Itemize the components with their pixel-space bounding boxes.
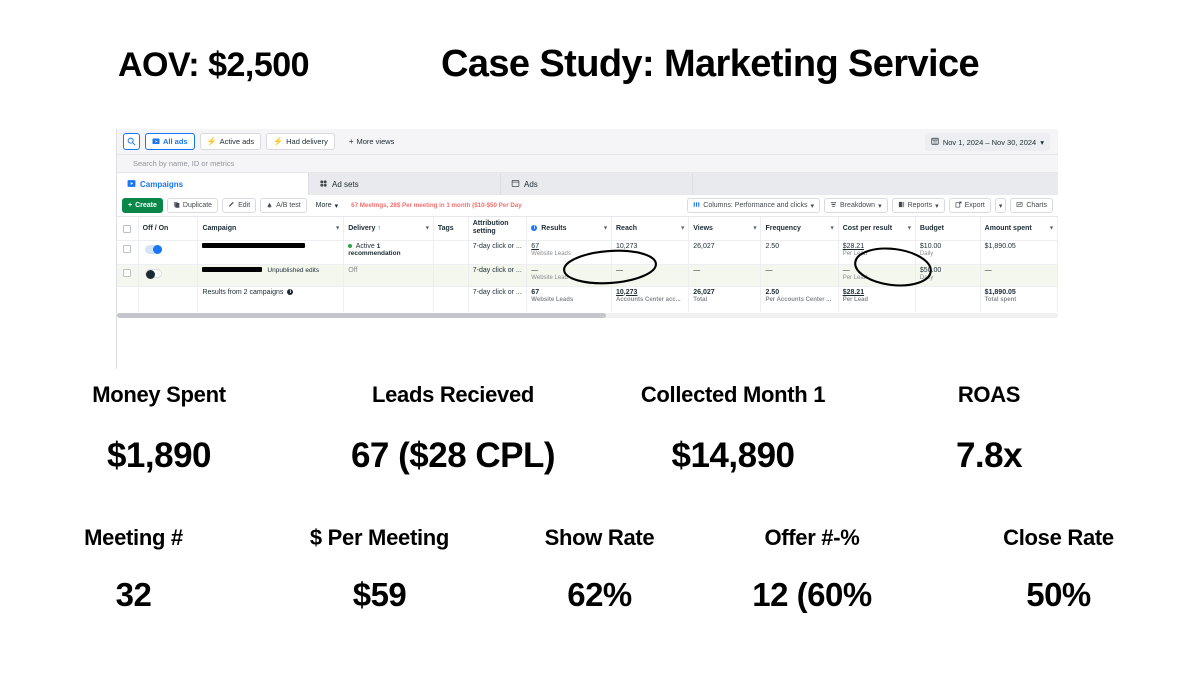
duplicate-button[interactable]: Duplicate (167, 198, 218, 213)
reports-label: Reports (908, 202, 933, 209)
columns-icon (693, 201, 700, 210)
metric-label: Leads Recieved (318, 382, 588, 408)
charts-button[interactable]: Charts (1010, 198, 1053, 213)
metric-label: Offer #-% (707, 525, 917, 551)
chevron-down-icon[interactable]: ▾ (908, 225, 911, 232)
lightning-icon: ⚡ (207, 138, 217, 146)
chevron-down-icon[interactable]: ▾ (426, 225, 429, 232)
metric-label: Meeting # (0, 525, 267, 551)
row-toggle-cell[interactable] (138, 240, 198, 264)
header-reach[interactable]: Reach ▾ (612, 217, 689, 240)
totals-blank (138, 286, 198, 312)
entity-tabs: Campaigns Ad sets Ads (117, 173, 1058, 195)
row-delivery: Off (344, 264, 434, 286)
campaigns-table: Off / On Campaign ▾ Delivery ↑ ▾ Tags At… (117, 217, 1058, 312)
table-header-row: Off / On Campaign ▾ Delivery ↑ ▾ Tags At… (117, 217, 1058, 240)
horizontal-scrollbar[interactable] (117, 313, 1058, 318)
tab-ad-sets[interactable]: Ad sets (309, 173, 501, 195)
row-views: — (689, 264, 761, 286)
totals-label: Results from 2 campaigns i (198, 286, 344, 312)
breakdown-button[interactable]: Breakdown ▾ (824, 198, 888, 213)
view-chip-all-ads[interactable]: All ads (145, 133, 195, 150)
row-campaign-name[interactable] (198, 240, 344, 264)
metrics-row-top: Money Spent $1,890 Leads Recieved 67 ($2… (0, 382, 1200, 476)
metric-close-rate: Close Rate 50% (917, 525, 1200, 614)
row-tags (433, 264, 468, 286)
metric-show-rate: Show Rate 62% (492, 525, 707, 614)
header-amount-spent[interactable]: Amount spent ▾ (980, 217, 1057, 240)
row-campaign-name[interactable]: Unpublished edits (198, 264, 344, 286)
toolbar-right-group: Columns: Performance and clicks ▾ Breakd… (687, 198, 1053, 213)
sort-ascending-icon: ↑ (377, 225, 381, 232)
page-title: Case Study: Marketing Service (441, 43, 979, 86)
columns-label: Columns: Performance and clicks (703, 202, 807, 209)
checkbox-icon[interactable] (123, 269, 131, 277)
metric-value: $59 (267, 576, 492, 614)
export-button[interactable]: Export (949, 198, 991, 213)
chevron-down-icon: ▾ (999, 202, 1003, 210)
row-checkbox-cell[interactable] (117, 264, 138, 286)
row-results: 67 Website Leads (527, 240, 612, 264)
export-icon (955, 201, 962, 210)
charts-icon (1016, 201, 1023, 210)
metric-value: 50% (917, 576, 1200, 614)
table-row[interactable]: Unpublished edits Off 7-day click or ...… (117, 264, 1058, 286)
table-row[interactable]: Active 1 recommendation 7-day click or .… (117, 240, 1058, 264)
reports-button[interactable]: Reports ▾ (892, 198, 945, 213)
totals-views: 26,027 Total (689, 286, 761, 312)
duplicate-icon (173, 201, 180, 210)
header-campaign[interactable]: Campaign ▾ (198, 217, 344, 240)
ad-frame-icon (511, 179, 520, 190)
row-cost-per-result: — Per Lead (838, 264, 915, 286)
metric-collected-month-1: Collected Month 1 $14,890 (588, 382, 878, 476)
row-checkbox-cell[interactable] (117, 240, 138, 264)
chevron-down-icon[interactable]: ▾ (753, 225, 756, 232)
create-button[interactable]: + Create (122, 198, 163, 213)
metric-label: Money Spent (0, 382, 318, 408)
more-label: More (316, 202, 332, 209)
date-range-label: Nov 1, 2024 – Nov 30, 2024 (943, 138, 1036, 147)
totals-results: 67 Website Leads (527, 286, 612, 312)
ab-test-label: A/B test (276, 202, 301, 209)
totals-blank (344, 286, 434, 312)
tab-label: Campaigns (140, 180, 183, 189)
header-budget[interactable]: Budget (915, 217, 980, 240)
row-attribution: 7-day click or ... (468, 240, 527, 264)
header-select-all[interactable] (117, 217, 138, 240)
chevron-down-icon: ▾ (1040, 138, 1044, 147)
campaign-icon (127, 179, 136, 190)
plus-icon: + (128, 202, 132, 209)
adset-grid-icon (319, 179, 328, 190)
header-cost-per-result[interactable]: Cost per result ▾ (838, 217, 915, 240)
reports-icon (898, 201, 905, 210)
campaign-status-toggle[interactable] (145, 269, 162, 278)
ads-folder-icon (152, 137, 160, 147)
metric-meeting-count: Meeting # 32 (0, 525, 267, 614)
metric-value: 67 ($28 CPL) (318, 436, 588, 476)
metric-value: 7.8x (878, 436, 1100, 476)
metric-roas: ROAS 7.8x (878, 382, 1100, 476)
metric-dollar-per-meeting: $ Per Meeting $59 (267, 525, 492, 614)
charts-label: Charts (1026, 202, 1047, 209)
view-chip-label: All ads (163, 137, 188, 146)
header-off-on[interactable]: Off / On (138, 217, 198, 240)
metric-money-spent: Money Spent $1,890 (0, 382, 318, 476)
search-icon[interactable] (123, 133, 140, 150)
chevron-down-icon: ▾ (811, 202, 815, 210)
header-delivery[interactable]: Delivery ↑ ▾ (344, 217, 434, 240)
row-cost-per-result: $28.21 Per Lead (838, 240, 915, 264)
edit-button[interactable]: Edit (222, 198, 256, 213)
date-range-picker[interactable]: Nov 1, 2024 – Nov 30, 2024 ▾ (925, 133, 1050, 151)
row-amount-spent: — (980, 264, 1057, 286)
row-delivery: Active 1 recommendation (344, 240, 434, 264)
chevron-down-icon[interactable]: ▾ (831, 225, 834, 232)
tab-ads[interactable]: Ads (501, 173, 693, 195)
action-toolbar: + Create Duplicate Edit A/B test More ▾ … (117, 195, 1058, 217)
chevron-down-icon: ▾ (935, 202, 939, 210)
view-chip-label: Had delivery (286, 137, 328, 146)
red-annotation-note: 67 Meetings, 28$ Per meeting in 1 month … (351, 202, 522, 209)
calendar-icon (931, 137, 939, 147)
unpublished-edits-badge: Unpublished edits (267, 267, 319, 274)
tab-label: Ads (524, 180, 538, 189)
chevron-down-icon: ▾ (878, 202, 882, 210)
totals-amount-spent: $1,890.05 Total spent (980, 286, 1057, 312)
metric-value: 32 (0, 576, 267, 614)
tab-campaigns[interactable]: Campaigns (117, 173, 309, 195)
checkbox-icon[interactable] (123, 225, 131, 233)
view-chip-label: Active ads (220, 137, 255, 146)
metric-value: 62% (492, 576, 707, 614)
row-results: — Website Lead (527, 264, 612, 286)
totals-blank (117, 286, 138, 312)
metric-value: 12 (60% (707, 576, 917, 614)
metrics-row-bottom: Meeting # 32 $ Per Meeting $59 Show Rate… (0, 525, 1200, 614)
metric-label: ROAS (878, 382, 1100, 408)
redacted-campaign-name (202, 243, 305, 248)
info-icon[interactable]: i (531, 225, 537, 231)
totals-reach: 10,273 Accounts Center acc... (612, 286, 689, 312)
chevron-down-icon[interactable]: ▾ (1050, 225, 1053, 232)
search-row[interactable]: Search by name, ID or metrics (117, 155, 1058, 173)
breakdown-icon (830, 201, 837, 210)
row-frequency: 2.50 (761, 240, 838, 264)
search-input[interactable]: Search by name, ID or metrics (133, 159, 234, 168)
lightning-icon: ⚡ (273, 138, 283, 146)
metric-value: $1,890 (0, 436, 318, 476)
export-dropdown-button[interactable]: ▾ (995, 198, 1007, 213)
duplicate-label: Duplicate (183, 202, 212, 209)
row-budget: $10.00 Daily (915, 240, 980, 264)
row-reach: 10,273 (612, 240, 689, 264)
ads-manager-screenshot: All ads ⚡ Active ads ⚡ Had delivery + Mo… (116, 129, 1058, 369)
view-chip-had-delivery[interactable]: ⚡ Had delivery (266, 133, 335, 150)
header-tags[interactable]: Tags (433, 217, 468, 240)
row-views: 26,027 (689, 240, 761, 264)
view-chip-more-views[interactable]: + More views (343, 133, 401, 150)
campaign-status-toggle[interactable] (145, 245, 162, 254)
totals-blank (433, 286, 468, 312)
header-views[interactable]: Views ▾ (689, 217, 761, 240)
metric-value: $14,890 (588, 436, 878, 476)
row-tags (433, 240, 468, 264)
header-attribution-setting[interactable]: Attribution setting (468, 217, 527, 240)
row-reach: — (612, 264, 689, 286)
metric-label: Collected Month 1 (588, 382, 878, 408)
metric-label: Close Rate (917, 525, 1200, 551)
header-results[interactable]: i Results ▾ (527, 217, 612, 240)
totals-budget (915, 286, 980, 312)
chevron-down-icon[interactable]: ▾ (681, 225, 684, 232)
view-chip-label: More views (357, 137, 395, 146)
views-bar: All ads ⚡ Active ads ⚡ Had delivery + Mo… (117, 129, 1058, 155)
aov-heading: AOV: $2,500 (118, 46, 309, 85)
checkbox-icon[interactable] (123, 245, 131, 253)
totals-frequency: 2.50 Per Accounts Center ... (761, 286, 838, 312)
scrollbar-thumb[interactable] (117, 313, 606, 318)
metric-label: $ Per Meeting (267, 525, 492, 551)
metric-leads-recieved: Leads Recieved 67 ($28 CPL) (318, 382, 588, 476)
table-totals-row: Results from 2 campaigns i 7-day click o… (117, 286, 1058, 312)
chevron-down-icon[interactable]: ▾ (336, 225, 339, 232)
totals-cost-per-result: $28.21 Per Lead (838, 286, 915, 312)
more-button[interactable]: More ▾ (311, 198, 343, 213)
pencil-icon (228, 201, 235, 210)
columns-button[interactable]: Columns: Performance and clicks ▾ (687, 198, 820, 213)
row-frequency: — (761, 264, 838, 286)
tab-row-filler (693, 173, 1058, 195)
row-toggle-cell[interactable] (138, 264, 198, 286)
chevron-down-icon: ▾ (335, 202, 339, 210)
row-attribution: 7-day click or ... (468, 264, 527, 286)
plus-icon: + (349, 138, 354, 146)
metric-offer-count-pct: Offer #-% 12 (60% (707, 525, 917, 614)
slide-headings: AOV: $2,500 Case Study: Marketing Servic… (0, 46, 1200, 108)
info-icon[interactable]: i (287, 289, 293, 295)
ab-test-icon (266, 201, 273, 210)
ab-test-button[interactable]: A/B test (260, 198, 307, 213)
chevron-down-icon[interactable]: ▾ (604, 225, 607, 232)
totals-attribution: 7-day click or ... (468, 286, 527, 312)
export-label: Export (965, 202, 985, 209)
row-budget: $50.00 Daily (915, 264, 980, 286)
breakdown-label: Breakdown (840, 202, 875, 209)
redacted-campaign-name (202, 267, 262, 272)
status-dot-active-icon (348, 244, 352, 248)
tab-label: Ad sets (332, 180, 359, 189)
metric-label: Show Rate (492, 525, 707, 551)
create-label: Create (135, 202, 157, 209)
row-amount-spent: $1,890.05 (980, 240, 1057, 264)
view-chip-active-ads[interactable]: ⚡ Active ads (200, 133, 262, 150)
header-frequency[interactable]: Frequency ▾ (761, 217, 838, 240)
edit-label: Edit (238, 202, 250, 209)
